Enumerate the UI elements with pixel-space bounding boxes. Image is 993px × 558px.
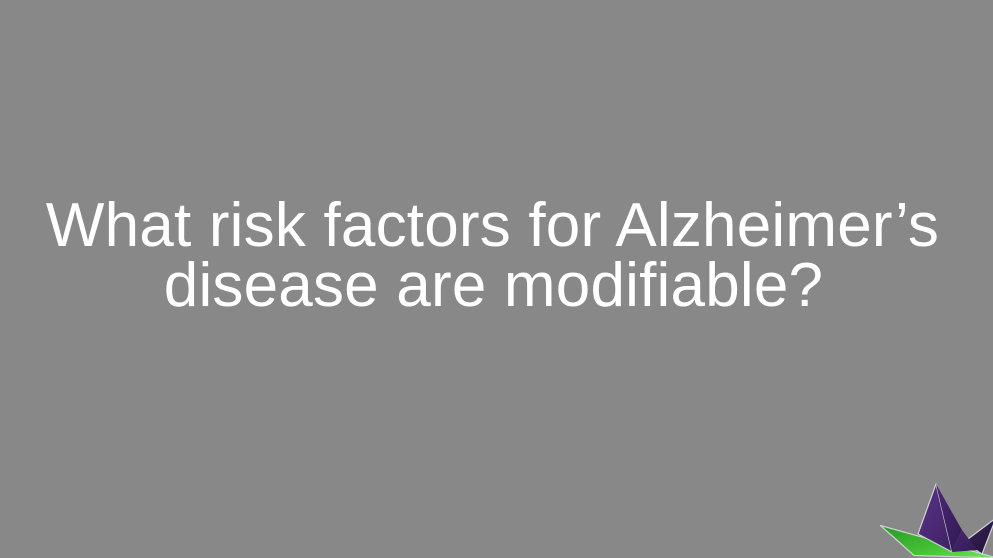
slide-canvas: What risk factors for Alzheimer’s diseas… [0, 0, 993, 558]
title-line-1: What risk factors for Alzheimer’s [32, 196, 953, 256]
title-line-2: disease are modifiable? [34, 256, 953, 316]
slide-title: What risk factors for Alzheimer’s diseas… [0, 196, 993, 316]
crown-logo-icon [878, 480, 993, 558]
crown-logo [878, 480, 993, 558]
